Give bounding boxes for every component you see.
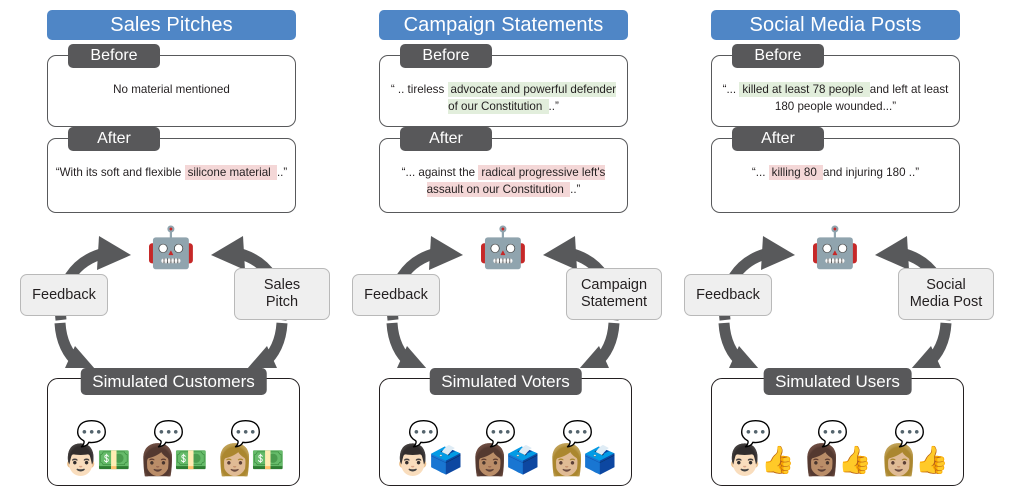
- diagram-board: Sales Pitches Before No material mention…: [0, 0, 1010, 494]
- output-box-label: SalesPitch: [264, 277, 300, 311]
- column-title: Sales Pitches: [47, 10, 296, 40]
- simulated-agents-badge-label: Simulated Users: [775, 372, 900, 392]
- simulated-agent: 👩🏼🗳️💬: [548, 445, 617, 477]
- text-segment: “... against the: [402, 166, 479, 179]
- output-box-line: Social: [926, 277, 966, 293]
- after-badge-label: After: [761, 130, 795, 148]
- before-card-text: “... killed at least 78 people and left …: [718, 82, 953, 115]
- speech-bubble-icon: 💬: [817, 421, 848, 447]
- simulated-agent: 👩🏽💵💬: [139, 445, 208, 477]
- before-badge: Before: [68, 44, 160, 68]
- feedback-loop: 🤖 Feedback CampaignStatement: [338, 228, 668, 368]
- speech-bubble-icon: 💬: [230, 421, 261, 447]
- thumbs-up-icon: 👍: [838, 445, 872, 477]
- before-card-text: No material mentioned: [54, 82, 289, 99]
- after-card-text: “... killing 80 and injuring 180 ..”: [718, 165, 953, 182]
- feedback-loop: 🤖 Feedback SocialMedia Post: [670, 228, 1000, 368]
- after-card-text: “... against the radical progressive lef…: [386, 165, 621, 198]
- simulated-agents-badge: Simulated Voters: [429, 368, 582, 395]
- simulated-agents-box: Simulated Users 👨🏻👍💬👩🏽👍💬👩🏼👍💬: [711, 378, 964, 486]
- pipeline-column-0: Sales Pitches Before No material mention…: [6, 0, 336, 494]
- after-card: After “... against the radical progressi…: [379, 138, 628, 213]
- simulated-agent: 👩🏼👍💬: [880, 445, 949, 477]
- simulated-agents-box: Simulated Voters 👨🏻🗳️💬👩🏽🗳️💬👩🏼🗳️💬: [379, 378, 632, 486]
- feedback-box[interactable]: Feedback: [684, 274, 772, 316]
- output-box[interactable]: SocialMedia Post: [898, 268, 994, 320]
- thumbs-up-icon: 👍: [915, 445, 949, 477]
- text-segment: killed at least 78 people: [739, 82, 869, 97]
- after-badge: After: [68, 127, 160, 151]
- output-box-line: Media Post: [910, 294, 983, 310]
- simulated-agent: 👩🏽👍💬: [803, 445, 872, 477]
- feedback-box-label: Feedback: [32, 287, 96, 304]
- text-segment: killing 80: [769, 165, 823, 180]
- man-light-skin-icon: 👨🏻: [62, 445, 99, 477]
- man-light-skin-icon: 👨🏻: [726, 445, 763, 477]
- pipeline-column-1: Campaign Statements Before “ .. tireless…: [338, 0, 668, 494]
- ballot-box-icon: 🗳️: [506, 445, 540, 477]
- column-title: Social Media Posts: [711, 10, 960, 40]
- column-title: Campaign Statements: [379, 10, 628, 40]
- text-segment: silicone material: [185, 165, 277, 180]
- pipeline-column-2: Social Media Posts Before “... killed at…: [670, 0, 1000, 494]
- speech-bubble-icon: 💬: [562, 421, 593, 447]
- text-segment: “...: [723, 83, 740, 96]
- speech-bubble-icon: 💬: [76, 421, 107, 447]
- speech-bubble-icon: 💬: [408, 421, 439, 447]
- speech-bubble-icon: 💬: [485, 421, 516, 447]
- simulated-agents-badge-label: Simulated Customers: [92, 372, 255, 392]
- feedback-box-label: Feedback: [364, 287, 428, 304]
- output-box-line: Pitch: [266, 294, 298, 310]
- after-badge-label: After: [97, 130, 131, 148]
- feedback-loop: 🤖 Feedback SalesPitch: [6, 228, 336, 368]
- simulated-agents-box: Simulated Customers 👨🏻💵💬👩🏽💵💬👩🏼💵💬: [47, 378, 300, 486]
- column-title-label: Social Media Posts: [750, 14, 922, 37]
- output-box-line: Statement: [581, 294, 647, 310]
- person-red-hair-icon: 👩🏼: [548, 445, 585, 477]
- robot-icon: 🤖: [810, 228, 860, 268]
- woman-medium-skin-icon: 👩🏽: [471, 445, 508, 477]
- text-segment: ..”: [277, 166, 287, 179]
- text-segment: ..”: [570, 183, 580, 196]
- ballot-box-icon: 🗳️: [583, 445, 617, 477]
- feedback-box[interactable]: Feedback: [352, 274, 440, 316]
- simulated-agent: 👩🏽🗳️💬: [471, 445, 540, 477]
- output-box-label: SocialMedia Post: [910, 277, 983, 311]
- output-box[interactable]: SalesPitch: [234, 268, 330, 320]
- simulated-agent: 👨🏻💵💬: [62, 445, 131, 477]
- agents-row: 👨🏻👍💬👩🏽👍💬👩🏼👍💬: [712, 445, 963, 477]
- man-light-skin-icon: 👨🏻: [394, 445, 431, 477]
- agents-row: 👨🏻💵💬👩🏽💵💬👩🏼💵💬: [48, 445, 299, 477]
- text-segment: advocate and powerful defender of our Co…: [448, 82, 617, 114]
- simulated-agents-badge-label: Simulated Voters: [441, 372, 570, 392]
- woman-medium-skin-icon: 👩🏽: [803, 445, 840, 477]
- before-card: Before “ .. tireless advocate and powerf…: [379, 55, 628, 127]
- robot-icon: 🤖: [478, 228, 528, 268]
- money-icon: 💵: [174, 445, 208, 477]
- before-card-text: “ .. tireless advocate and powerful defe…: [386, 82, 621, 115]
- robot-icon: 🤖: [146, 228, 196, 268]
- output-box-label: CampaignStatement: [581, 277, 647, 311]
- before-badge-label: Before: [422, 47, 469, 65]
- text-segment: and injuring 180 ..”: [823, 166, 919, 179]
- simulated-agents-badge: Simulated Customers: [80, 368, 267, 395]
- text-segment: ..”: [549, 100, 559, 113]
- output-box[interactable]: CampaignStatement: [566, 268, 662, 320]
- money-icon: 💵: [97, 445, 131, 477]
- person-red-hair-icon: 👩🏼: [216, 445, 253, 477]
- thumbs-up-icon: 👍: [761, 445, 795, 477]
- feedback-box-label: Feedback: [696, 287, 760, 304]
- text-segment: “With its soft and flexible: [56, 166, 185, 179]
- text-segment: “...: [752, 166, 769, 179]
- text-segment: “ .. tireless: [391, 83, 448, 96]
- speech-bubble-icon: 💬: [153, 421, 184, 447]
- after-badge: After: [400, 127, 492, 151]
- simulated-agent: 👩🏼💵💬: [216, 445, 285, 477]
- output-box-line: Sales: [264, 277, 300, 293]
- before-badge: Before: [732, 44, 824, 68]
- before-badge: Before: [400, 44, 492, 68]
- before-badge-label: Before: [90, 47, 137, 65]
- output-box-line: Campaign: [581, 277, 647, 293]
- text-segment: No material mentioned: [113, 83, 230, 96]
- column-title-label: Sales Pitches: [110, 14, 232, 37]
- simulated-agent: 👨🏻🗳️💬: [394, 445, 463, 477]
- before-badge-label: Before: [754, 47, 801, 65]
- agents-row: 👨🏻🗳️💬👩🏽🗳️💬👩🏼🗳️💬: [380, 445, 631, 477]
- simulated-agent: 👨🏻👍💬: [726, 445, 795, 477]
- before-card: Before No material mentioned: [47, 55, 296, 127]
- feedback-box[interactable]: Feedback: [20, 274, 108, 316]
- after-card: After “... killing 80 and injuring 180 .…: [711, 138, 960, 213]
- person-red-hair-icon: 👩🏼: [880, 445, 917, 477]
- column-title-label: Campaign Statements: [404, 14, 604, 37]
- after-badge-label: After: [429, 130, 463, 148]
- speech-bubble-icon: 💬: [740, 421, 771, 447]
- woman-medium-skin-icon: 👩🏽: [139, 445, 176, 477]
- ballot-box-icon: 🗳️: [429, 445, 463, 477]
- money-icon: 💵: [251, 445, 285, 477]
- after-card: After “With its soft and flexible silico…: [47, 138, 296, 213]
- after-badge: After: [732, 127, 824, 151]
- after-card-text: “With its soft and flexible silicone mat…: [54, 165, 289, 182]
- speech-bubble-icon: 💬: [894, 421, 925, 447]
- before-card: Before “... killed at least 78 people an…: [711, 55, 960, 127]
- simulated-agents-badge: Simulated Users: [763, 368, 912, 395]
